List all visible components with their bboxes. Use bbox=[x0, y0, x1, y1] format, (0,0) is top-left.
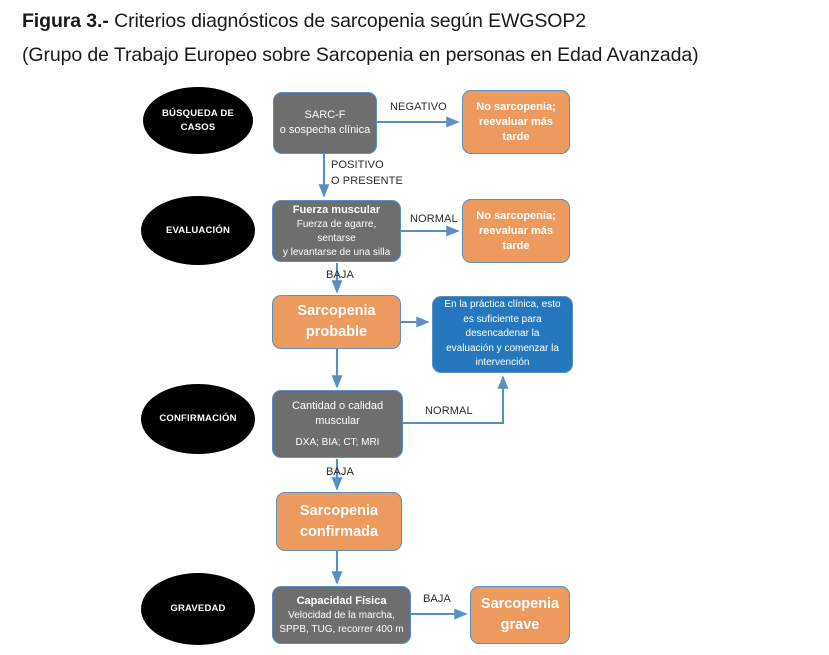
node-cantidad-line3: DXA; BIA; CT; MRI bbox=[296, 436, 380, 450]
node-sarcopenia-probable-line2: probable bbox=[306, 322, 367, 343]
node-sarcopenia-grave-line2: grave bbox=[501, 615, 540, 636]
node-fuerza-muscular-head: Fuerza muscular bbox=[293, 203, 380, 218]
edge-label-positivo-line2: O PRESENTE bbox=[331, 174, 403, 189]
node-fuerza-muscular[interactable]: Fuerza muscular Fuerza de agarre, sentar… bbox=[272, 200, 401, 262]
edge-label-normal-2: NORMAL bbox=[425, 404, 473, 419]
node-practica-clinica-line4: evaluación y comenzar la bbox=[446, 342, 559, 357]
edge-label-negativo: NEGATIVO bbox=[390, 100, 447, 115]
flowchart-diagram: BÚSQUEDA DE CASOS EVALUACIÓN CONFIRMACIÓ… bbox=[0, 0, 829, 655]
node-sarcopenia-confirmada-line2: confirmada bbox=[300, 522, 378, 543]
edge-label-baja-3: BAJA bbox=[423, 592, 451, 607]
stage-ellipse-gravedad: GRAVEDAD bbox=[141, 573, 255, 645]
node-capacidad-fisica-line2: SPPB, TUG, recorrer 400 m bbox=[279, 623, 403, 637]
stage-ellipse-confirmacion: CONFIRMACIÓN bbox=[141, 384, 255, 454]
node-no-sarcopenia-1-line3: tarde bbox=[503, 130, 530, 145]
node-sarcopenia-confirmada-line1: Sarcopenia bbox=[300, 501, 378, 522]
node-no-sarcopenia-2-line3: tarde bbox=[503, 239, 530, 254]
node-sarcopenia-probable-line1: Sarcopenia bbox=[297, 301, 375, 322]
node-cantidad-calidad-muscular[interactable]: Cantidad o calidad muscular DXA; BIA; CT… bbox=[272, 390, 403, 458]
node-sarc-f[interactable]: SARC-F o sospecha clínica bbox=[273, 92, 377, 154]
node-no-sarcopenia-2[interactable]: No sarcopenia; reevaluar más tarde bbox=[462, 199, 570, 263]
node-practica-clinica-line3: desencadenar la bbox=[466, 327, 540, 342]
node-capacidad-fisica-line1: Velocidad de la marcha, bbox=[288, 609, 395, 623]
node-sarcopenia-grave[interactable]: Sarcopenia grave bbox=[470, 586, 570, 644]
node-sarc-f-line2: o sospecha clínica bbox=[280, 123, 371, 138]
node-no-sarcopenia-2-line2: reevaluar más bbox=[479, 224, 553, 239]
stage-ellipse-busqueda: BÚSQUEDA DE CASOS bbox=[143, 87, 253, 154]
node-no-sarcopenia-1[interactable]: No sarcopenia; reevaluar más tarde bbox=[462, 90, 570, 154]
node-no-sarcopenia-1-line1: No sarcopenia; bbox=[476, 100, 555, 115]
node-sarcopenia-confirmada[interactable]: Sarcopenia confirmada bbox=[276, 492, 402, 551]
stage-label-line2: CASOS bbox=[181, 121, 216, 135]
node-no-sarcopenia-1-line2: reevaluar más bbox=[479, 115, 553, 130]
node-sarcopenia-probable[interactable]: Sarcopenia probable bbox=[272, 295, 401, 349]
connector-layer bbox=[0, 0, 829, 655]
stage-ellipse-evaluacion: EVALUACIÓN bbox=[141, 196, 255, 265]
node-no-sarcopenia-2-line1: No sarcopenia; bbox=[476, 209, 555, 224]
stage-label-line1: EVALUACIÓN bbox=[166, 224, 230, 238]
node-practica-clinica-line5: intervención bbox=[476, 356, 530, 371]
node-sarcopenia-grave-line1: Sarcopenia bbox=[481, 594, 559, 615]
node-practica-clinica[interactable]: En la práctica clínica, esto es suficien… bbox=[432, 296, 573, 373]
stage-label-line1: GRAVEDAD bbox=[170, 602, 225, 616]
edge-label-positivo-line1: POSITIVO bbox=[331, 158, 384, 173]
node-fuerza-muscular-line2: y levantarse de una silla bbox=[283, 246, 390, 260]
edge-label-normal-1: NORMAL bbox=[410, 212, 458, 227]
node-cantidad-line1: Cantidad o calidad bbox=[292, 399, 383, 414]
edge-label-baja-1: BAJA bbox=[326, 268, 354, 283]
node-practica-clinica-line1: En la práctica clínica, esto bbox=[444, 298, 560, 313]
node-fuerza-muscular-line1: Fuerza de agarre, sentarse bbox=[278, 218, 395, 246]
node-sarc-f-line1: SARC-F bbox=[305, 108, 346, 123]
stage-label-line1: CONFIRMACIÓN bbox=[159, 412, 236, 426]
stage-label-line1: BÚSQUEDA DE bbox=[162, 107, 234, 121]
edge-label-baja-2: BAJA bbox=[326, 465, 354, 480]
node-capacidad-fisica-head: Capacidad Física bbox=[297, 594, 387, 609]
node-capacidad-fisica[interactable]: Capacidad Física Velocidad de la marcha,… bbox=[272, 586, 411, 644]
node-cantidad-line2: muscular bbox=[315, 414, 360, 429]
node-practica-clinica-line2: es suficiente para bbox=[463, 313, 541, 328]
